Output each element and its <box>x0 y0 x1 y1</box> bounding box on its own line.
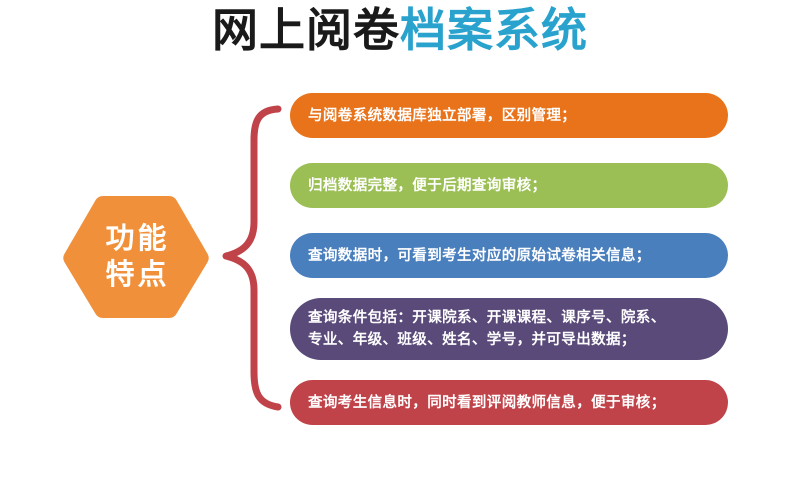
curly-brace-shape <box>214 104 286 414</box>
feature-bar-3[interactable]: 查询数据时，可看到考生对应的原始试卷相关信息； <box>290 233 728 278</box>
page-title: 网上阅卷档案系统 <box>0 2 800 58</box>
feature-bar-1-text: 与阅卷系统数据库独立部署，区别管理； <box>308 105 576 127</box>
feature-bar-2-text: 归档数据完整，便于后期查询审核； <box>308 175 546 197</box>
page-title-accent: 档案系统 <box>400 4 588 56</box>
feature-bar-5-text: 查询考生信息时，同时看到评阅教师信息，便于审核； <box>308 392 666 414</box>
hexagon-label-line2: 特点 <box>102 257 169 293</box>
feature-bar-3-text: 查询数据时，可看到考生对应的原始试卷相关信息； <box>308 245 651 267</box>
feature-bar-5[interactable]: 查询考生信息时，同时看到评阅教师信息，便于审核； <box>290 380 728 425</box>
feature-bar-2[interactable]: 归档数据完整，便于后期查询审核； <box>290 163 728 208</box>
hexagon-label: 功能 特点 <box>62 193 210 321</box>
page-title-primary: 网上阅卷 <box>212 4 400 56</box>
feature-bar-4[interactable]: 查询条件包括：开课院系、开课课程、课序号、院系、 专业、年级、班级、姓名、学号，… <box>290 298 728 360</box>
feature-bar-1[interactable]: 与阅卷系统数据库独立部署，区别管理； <box>290 93 728 138</box>
hexagon-badge: 功能 特点 <box>62 193 210 321</box>
infographic-canvas: 网上阅卷档案系统 功能 特点 与阅卷系统数据库独立部署，区别管理； 归档数据完整… <box>0 0 800 496</box>
curly-brace-icon <box>214 104 286 414</box>
feature-bar-4-text: 查询条件包括：开课院系、开课课程、课序号、院系、 专业、年级、班级、姓名、学号，… <box>308 307 666 351</box>
hexagon-label-line1: 功能 <box>102 221 169 257</box>
